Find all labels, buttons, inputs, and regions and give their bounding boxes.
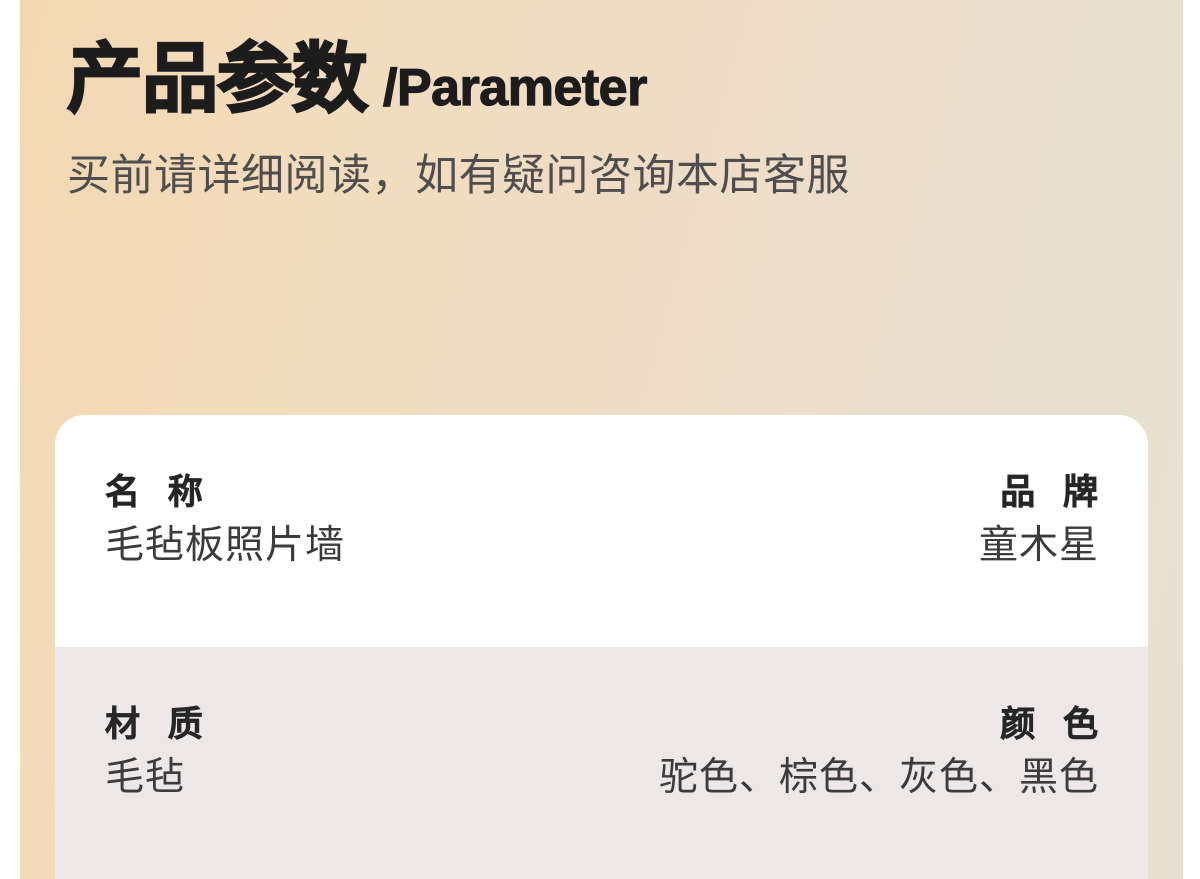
table-row: 材 质 毛毡 颜 色 驼色、棕色、灰色、黑色 (55, 647, 1148, 879)
spec-cell-material: 材 质 毛毡 (105, 647, 212, 804)
product-parameter-page: 产品参数 /Parameter 买前请详细阅读，如有疑问咨询本店客服 名 称 毛… (0, 0, 1200, 879)
spec-value-brand: 童木星 (979, 520, 1099, 573)
spec-table-card: 名 称 毛毡板照片墙 品 牌 童木星 材 质 毛毡 颜 色 驼色、棕色、灰色、黑… (55, 415, 1148, 879)
spec-label-name: 名 称 (105, 471, 212, 516)
spec-value-name: 毛毡板照片墙 (105, 520, 345, 573)
page-title: 产品参数 /Parameter (67, 42, 1127, 118)
spec-label-brand: 品 牌 (1000, 471, 1107, 516)
page-subtitle: 买前请详细阅读，如有疑问咨询本店客服 (67, 152, 1127, 201)
page-header: 产品参数 /Parameter 买前请详细阅读，如有疑问咨询本店客服 (67, 42, 1127, 201)
spec-cell-color: 颜 色 驼色、棕色、灰色、黑色 (659, 647, 1098, 804)
spec-label-material: 材 质 (105, 703, 212, 748)
table-row: 名 称 毛毡板照片墙 品 牌 童木星 (55, 415, 1148, 647)
spec-cell-name: 名 称 毛毡板照片墙 (105, 415, 345, 572)
beige-background-panel: 产品参数 /Parameter 买前请详细阅读，如有疑问咨询本店客服 名 称 毛… (20, 0, 1183, 879)
spec-label-color: 颜 色 (1000, 703, 1107, 748)
spec-cell-brand: 品 牌 童木星 (979, 415, 1098, 572)
page-title-english: /Parameter (383, 62, 647, 114)
spec-value-color: 驼色、棕色、灰色、黑色 (659, 752, 1099, 805)
page-title-chinese: 产品参数 (67, 42, 367, 118)
spec-value-material: 毛毡 (105, 752, 185, 805)
